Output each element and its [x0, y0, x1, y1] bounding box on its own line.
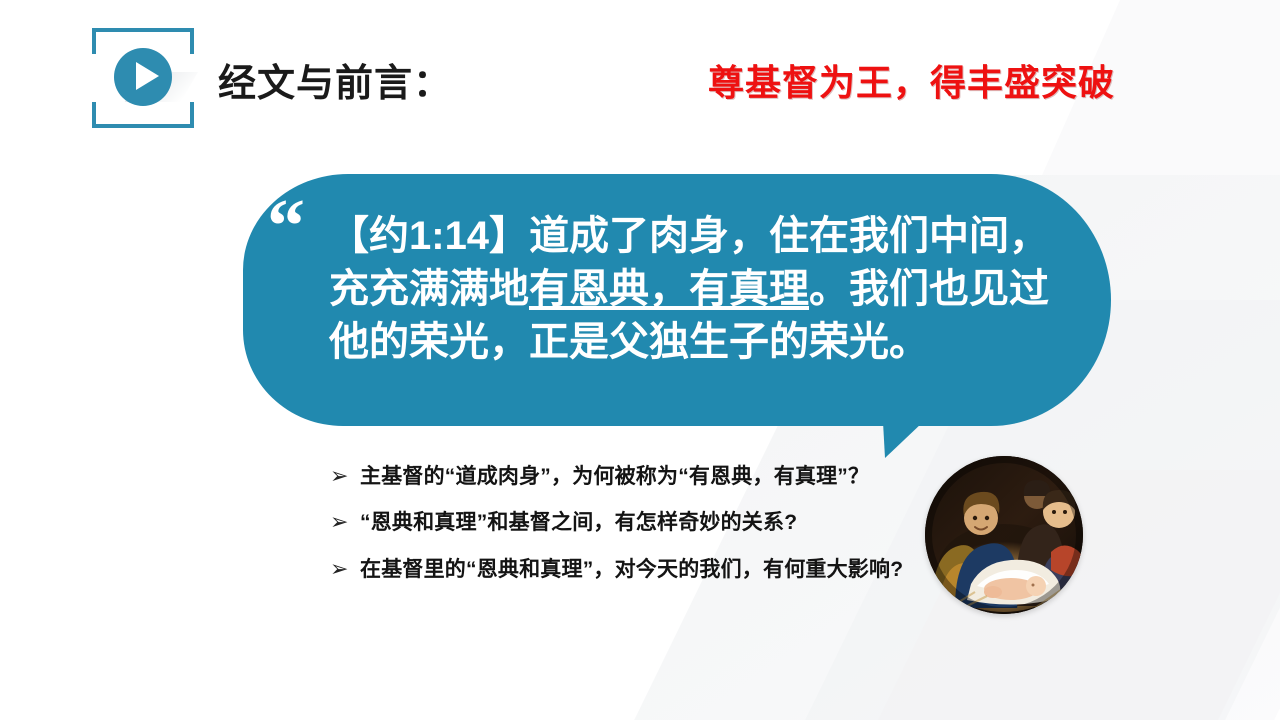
nativity-painting-image	[925, 456, 1083, 614]
play-button-in-frame-icon	[90, 28, 196, 128]
question-text-2: “恩典和真理”和基督之间，有怎样奇妙的关系?	[360, 508, 910, 538]
slide-canvas: 经文与前言： 尊基督为王，得丰盛突破 “ 【约1:14】道成了肉身，住在我们中间…	[0, 0, 1280, 720]
scripture-line-1: 道成了肉身，住在我们中间，	[529, 214, 1049, 258]
arrow-bullet-icon: ➢	[330, 462, 360, 492]
scripture-emphasis: 有恩典，有真理	[529, 267, 809, 311]
scripture-text: 【约1:14】道成了肉身，住在我们中间，充充满满地有恩典，有真理。我们也见过他的…	[329, 210, 1069, 370]
list-item: ➢ 在基督里的“恩典和真理”，对今天的我们，有何重大影响?	[330, 555, 910, 585]
arrow-bullet-icon: ➢	[330, 555, 360, 585]
list-item: ➢ “恩典和真理”和基督之间，有怎样奇妙的关系?	[330, 508, 910, 538]
frame-top-edge	[92, 28, 194, 32]
slide-header: 经文与前言： 尊基督为王，得丰盛突破	[0, 0, 1280, 150]
scripture-line-2b: 。我们也见	[809, 267, 1009, 311]
frame-right-edge-lower	[190, 102, 194, 128]
list-item: ➢ 主基督的“道成肉身”，为何被称为“有恩典，有真理”？	[330, 462, 910, 492]
section-label: 经文与前言：	[218, 52, 452, 107]
question-text-1: 主基督的“道成肉身”，为何被称为“有恩典，有真理”？	[360, 462, 910, 492]
frame-left-edge-lower	[92, 102, 96, 128]
question-list: ➢ 主基督的“道成肉身”，为何被称为“有恩典，有真理”？ ➢ “恩典和真理”和基…	[330, 462, 910, 601]
slide-title: 尊基督为王，得丰盛突破	[708, 54, 1115, 106]
frame-left-edge-upper	[92, 28, 96, 54]
frame-right-edge-upper	[190, 28, 194, 54]
quote-mark-icon: “	[267, 188, 305, 264]
scripture-reference: 【约1:14】	[329, 214, 529, 258]
play-triangle-icon	[136, 62, 159, 90]
arrow-bullet-icon: ➢	[330, 508, 360, 538]
bubble-tail	[883, 422, 923, 458]
scripture-line-2a: 充充满满地	[329, 267, 529, 311]
scripture-quote-bubble: “ 【约1:14】道成了肉身，住在我们中间，充充满满地有恩典，有真理。我们也见过…	[243, 174, 1111, 426]
question-text-3: 在基督里的“恩典和真理”，对今天的我们，有何重大影响?	[360, 555, 910, 585]
frame-bottom-edge	[92, 124, 194, 128]
